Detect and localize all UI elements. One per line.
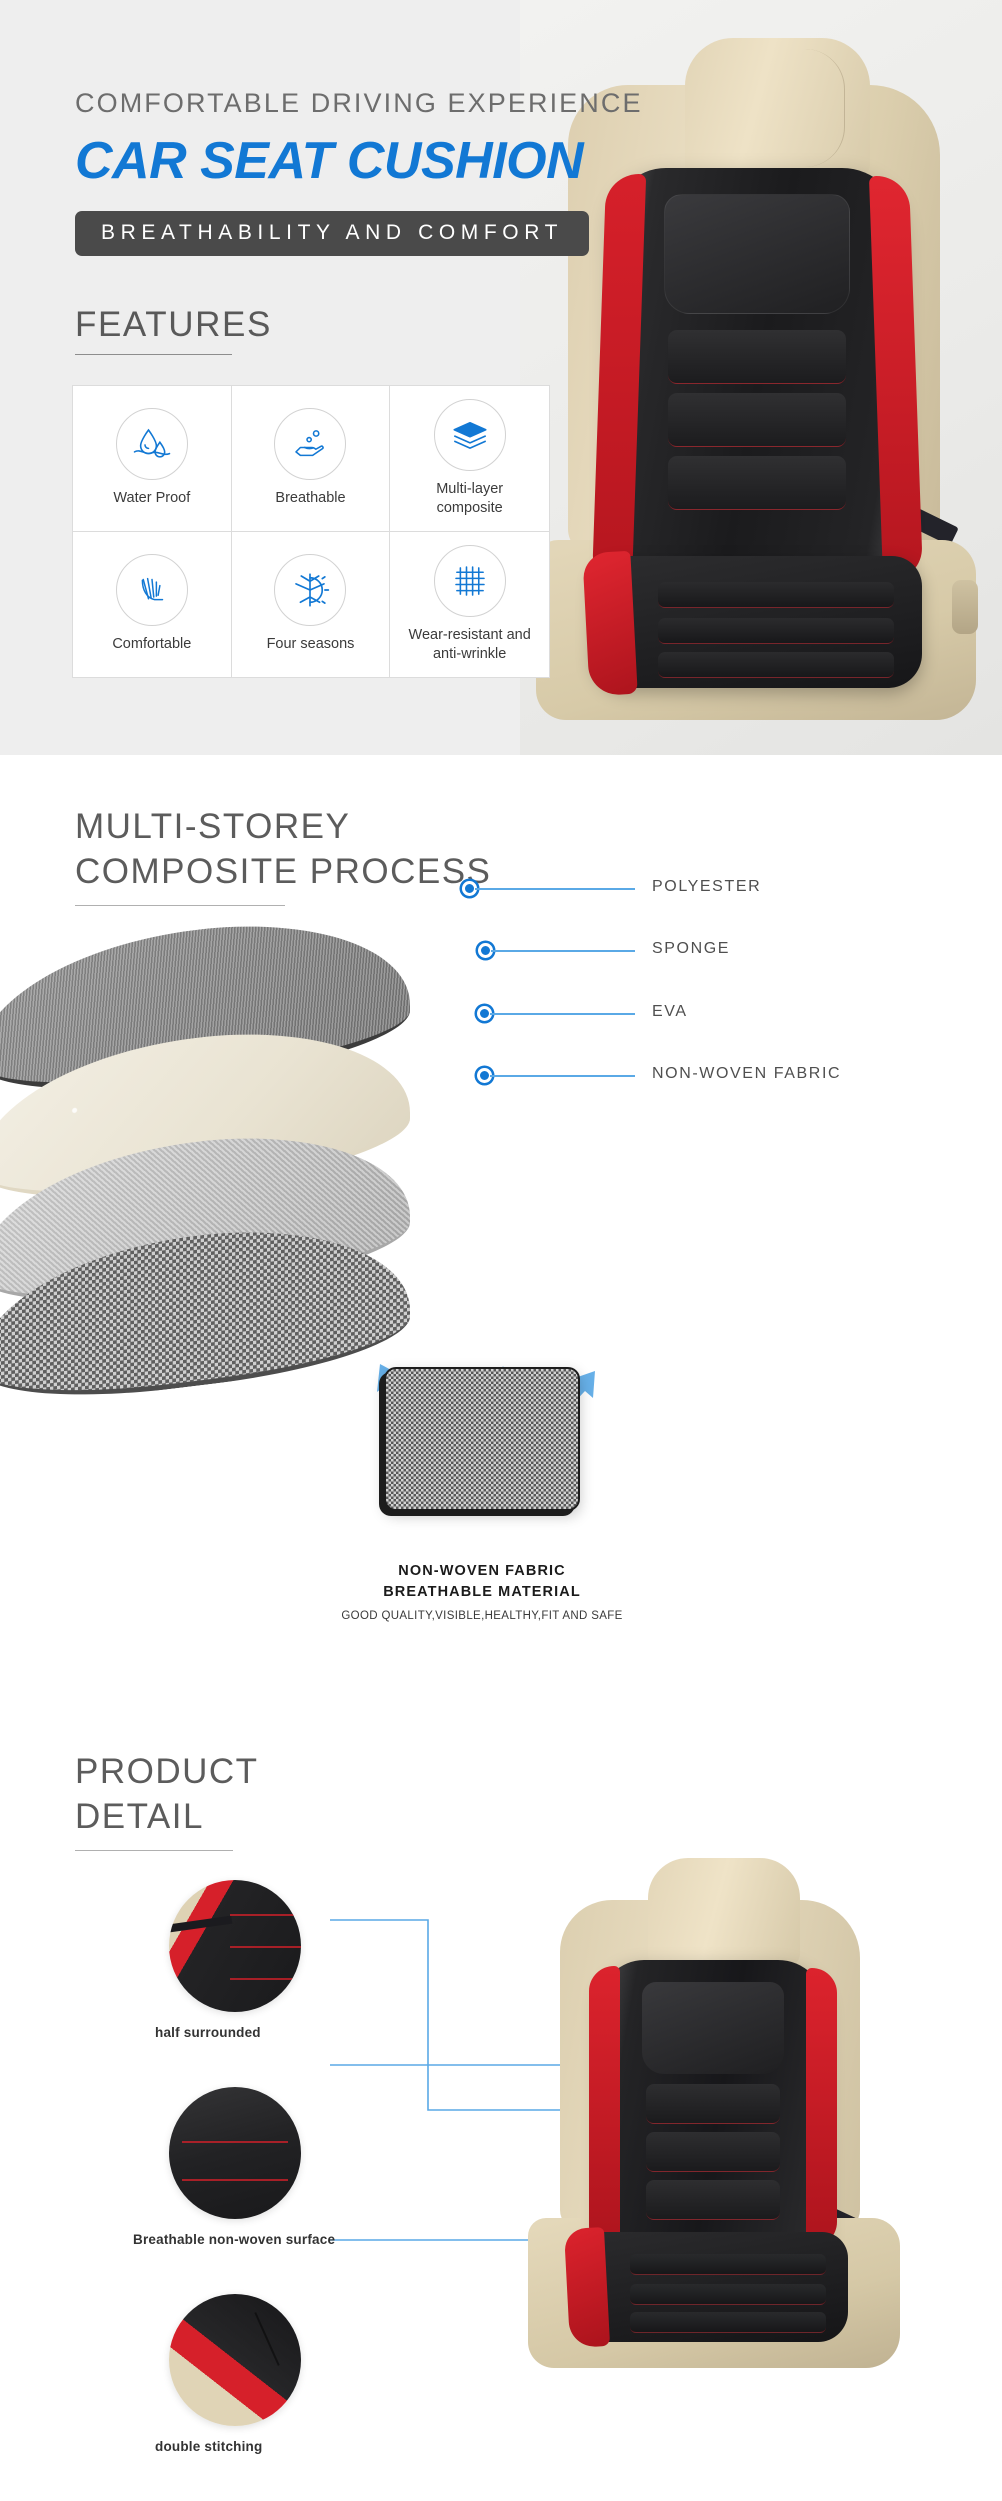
hero-eyebrow: COMFORTABLE DRIVING EXPERIENCE [75, 88, 725, 119]
detail-seat-headrest [648, 1858, 800, 1966]
thumbnail-image [169, 2087, 301, 2219]
composite-process-section: MULTI-STOREY COMPOSITE PROCESS POLYESTER… [0, 755, 1002, 1700]
non-woven-fabric-swatch [384, 1367, 580, 1511]
detail-underline [75, 1850, 233, 1851]
hero-headline: CAR SEAT CUSHION [75, 131, 725, 191]
seat-pad-rib [658, 652, 894, 678]
detail-seat-pad-rib [630, 2312, 826, 2333]
detail-title-line1: PRODUCT [75, 1752, 259, 1791]
feature-cell-water-proof[interactable]: Water Proof [73, 386, 232, 532]
stacked-layers-icon [434, 399, 506, 471]
feature-label: Breathable [275, 489, 345, 508]
detail-cushion-rib [646, 2084, 780, 2124]
thumbnail-image [169, 1880, 301, 2012]
hand-airflow-icon [274, 408, 346, 480]
thumb-stitch [230, 1914, 301, 1916]
detail-cushion-top-panel [642, 1982, 784, 2074]
callout-line [475, 888, 635, 890]
hero-banner: COMFORTABLE DRIVING EXPERIENCE CAR SEAT … [0, 0, 1002, 755]
feature-label: Wear-resistant and anti-wrinkle [404, 626, 536, 664]
callout-line [490, 1075, 635, 1077]
callout-label: POLYESTER [652, 878, 761, 896]
composite-title-line2: COMPOSITE PROCESS [75, 852, 491, 891]
features-heading-block: FEATURES [75, 305, 272, 355]
callout-line [490, 1013, 635, 1015]
feature-label: Four seasons [267, 635, 355, 654]
features-title: FEATURES [75, 305, 272, 345]
detail-product-image [500, 1840, 970, 2410]
feature-cell-wear-resistant[interactable]: Wear-resistant and anti-wrinkle [390, 532, 549, 678]
detail-title-line2: DETAIL [75, 1797, 204, 1836]
detail-item-label: half surrounded [155, 2025, 425, 2040]
layer-stack-illustration [0, 930, 500, 1350]
cushion-rib [668, 330, 846, 384]
detail-seat-pad-rib [630, 2284, 826, 2305]
swatch-caption-line2: BREATHABLE MATERIAL [383, 1584, 581, 1600]
breathable-swatch-block: NON-WOVEN FABRIC BREATHABLE MATERIAL GOO… [272, 1345, 692, 1622]
features-grid: Water Proof Breathable Mu [72, 385, 550, 678]
swatch-subcaption: GOOD QUALITY,VISIBLE,HEALTHY,FIT AND SAF… [272, 1610, 692, 1622]
cushion-rib [668, 393, 846, 447]
hero-ribbon-badge: BREATHABILITY AND COMFORT [75, 211, 589, 256]
feature-cell-breathable[interactable]: Breathable [232, 386, 391, 532]
thumb-stitch [230, 1978, 301, 1980]
thumb-stitch [230, 1946, 301, 1948]
callout-label: EVA [652, 1003, 688, 1021]
composite-heading-block: MULTI-STOREY COMPOSITE PROCESS [75, 805, 491, 906]
detail-cushion-rib [646, 2180, 780, 2220]
callout-label: SPONGE [652, 940, 730, 958]
hero-text-block: COMFORTABLE DRIVING EXPERIENCE CAR SEAT … [75, 88, 725, 256]
detail-cushion-seat-pad [572, 2232, 848, 2342]
cushion-rib-group [668, 330, 846, 519]
composite-underline [75, 905, 285, 906]
detail-thumbnail-list: half surrounded Breathable non-woven sur… [155, 1880, 425, 2501]
water-drop-icon [116, 408, 188, 480]
thumb-stitch [254, 2312, 279, 2366]
cushion-rib [668, 456, 846, 510]
feature-cell-multi-layer[interactable]: Multi-layer composite [390, 386, 549, 532]
swatch-caption-line1: NON-WOVEN FABRIC [398, 1563, 565, 1579]
feature-label: Multi-layer composite [404, 480, 536, 518]
detail-item-breathable-surface[interactable]: Breathable non-woven surface [155, 2087, 425, 2247]
feature-cell-four-seasons[interactable]: Four seasons [232, 532, 391, 678]
feature-label: Comfortable [112, 635, 191, 654]
thumb-stitch [182, 2141, 288, 2143]
thumb-accent [169, 1916, 233, 1933]
detail-item-half-surrounded[interactable]: half surrounded [155, 1880, 425, 2040]
detail-cushion-backrest [600, 1960, 826, 2260]
product-detail-section: PRODUCT DETAIL half surrounded Breathabl… [0, 1700, 1002, 2460]
detail-item-label: Breathable non-woven surface [133, 2232, 425, 2247]
detail-item-label: double stitching [155, 2439, 425, 2454]
mesh-grid-icon [434, 545, 506, 617]
swatch-caption-block: NON-WOVEN FABRIC BREATHABLE MATERIAL GOO… [272, 1561, 692, 1622]
feather-icon [116, 554, 188, 626]
composite-title-line1: MULTI-STOREY [75, 807, 350, 846]
detail-item-double-stitching[interactable]: double stitching [155, 2294, 425, 2454]
detail-seat-pad-rib [630, 2254, 826, 2275]
feature-cell-comfortable[interactable]: Comfortable [73, 532, 232, 678]
sun-snowflake-icon [274, 554, 346, 626]
callout-line [491, 950, 635, 952]
detail-cushion-rib [646, 2132, 780, 2172]
seat-pad-rib [658, 582, 894, 608]
features-underline [75, 354, 232, 355]
callout-label: NON-WOVEN FABRIC [652, 1065, 841, 1083]
thumb-stitch [182, 2179, 288, 2181]
feature-label: Water Proof [113, 489, 190, 508]
thumbnail-image [169, 2294, 301, 2426]
detail-heading-block: PRODUCT DETAIL [75, 1750, 259, 1851]
seat-pad-rib [658, 618, 894, 644]
seat-side-knob [952, 580, 978, 634]
cushion-seat-pad [592, 556, 922, 688]
